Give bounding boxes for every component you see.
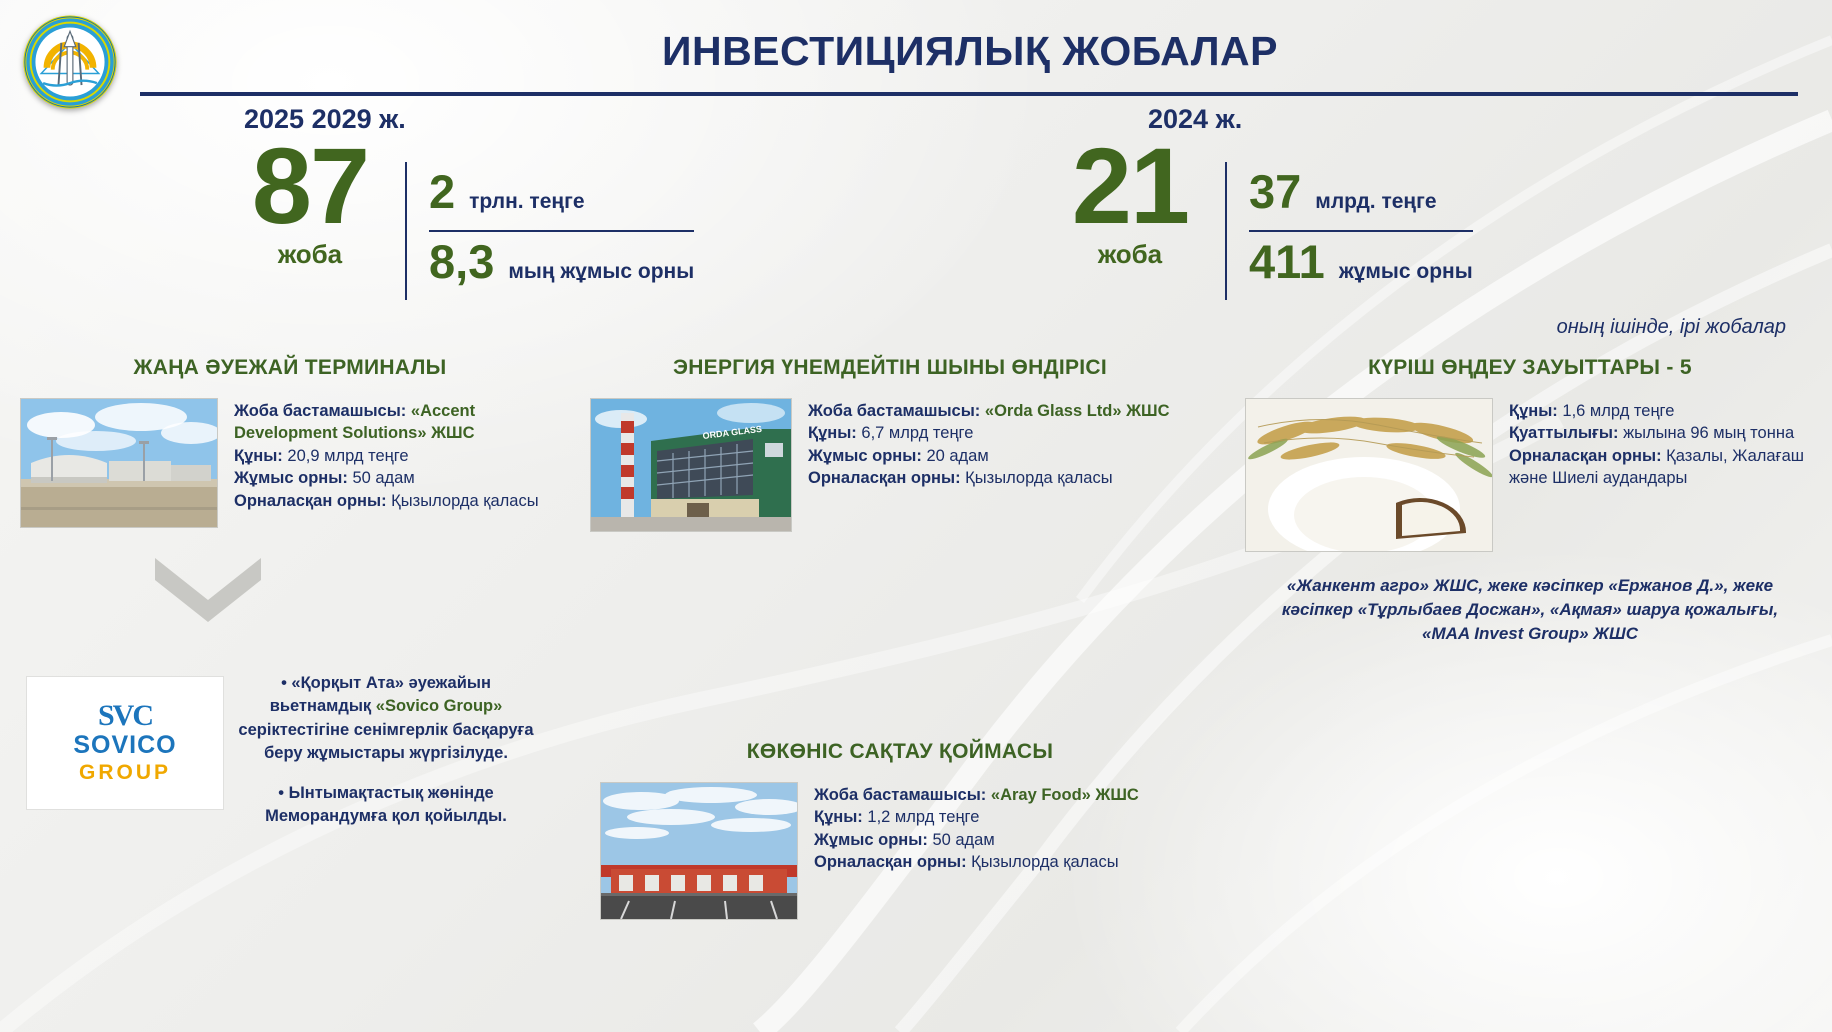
project-card-warehouse: КӨКӨНІС САҚТАУ ҚОЙМАСЫ: [600, 740, 1200, 920]
stat-detail-list: 2 трлн. теңге 8,3 мың жұмыс орны: [405, 162, 694, 300]
stat-row-value: 2: [429, 168, 455, 215]
sovico-logo-mark: SVC: [98, 701, 152, 731]
subnote-large-projects: оның ішінде, ірі жобалар: [1557, 316, 1786, 339]
sovico-logo-name: SOVICO: [73, 731, 176, 760]
detail-line: Жұмыс орны: 50 адам: [234, 467, 560, 489]
airport-terminal-photo: [20, 398, 218, 528]
down-arrow-icon: [155, 558, 261, 627]
vegetable-warehouse-photo: [600, 782, 798, 920]
stat-row: 411 жұмыс орны: [1249, 232, 1473, 300]
detail-line: Орналасқан орны: Қызылорда қаласы: [234, 490, 560, 512]
detail-line: Орналасқан орны: Қазалы, Жалағаш және Ши…: [1509, 445, 1815, 490]
list-item: • Ынтымақтастық жөнінде Меморандумға қол…: [236, 782, 536, 829]
stat-detail-list: 37 млрд. теңге 411 жұмыс орны: [1225, 162, 1473, 300]
detail-line: Құны: 6,7 млрд теңге: [808, 422, 1170, 444]
page-title: ИНВЕСТИЦИЯЛЫҚ ЖОБАЛАР: [140, 28, 1800, 75]
project-details: Жоба бастамашысы: «Aray Food» ЖШС Құны: …: [814, 782, 1139, 874]
stat-count-value: 87: [215, 136, 405, 235]
stat-row-value: 37: [1249, 168, 1301, 215]
sovico-bullet-list: • «Қорқыт Ата» әуежайын вьетнамдық «Sovi…: [236, 672, 536, 845]
detail-line: Жоба бастамашысы: «Accent Development So…: [234, 400, 560, 445]
stat-row-unit: млрд. теңге: [1315, 190, 1436, 214]
project-note-rice: «Жанкент агро» ЖШС, жеке кәсіпкер «Ержан…: [1245, 574, 1815, 645]
kyzylorda-region-emblem-icon: [22, 14, 118, 110]
list-item: • «Қорқыт Ата» әуежайын вьетнамдық «Sovi…: [236, 672, 536, 766]
slide-root: ИНВЕСТИЦИЯЛЫҚ ЖОБАЛАР 2025 2029 ж. 87 жо…: [0, 0, 1832, 1032]
title-divider: [140, 92, 1798, 96]
stat-count-block: 87 жоба: [215, 136, 405, 270]
project-card-airport: ЖАҢА ӘУЕЖАЙ ТЕРМИНАЛЫ: [20, 356, 560, 528]
stat-group-2025-2029: 87 жоба 2 трлн. теңге 8,3 мың жұмыс орны: [215, 136, 694, 300]
detail-line: Жұмыс орны: 50 адам: [814, 829, 1139, 851]
orda-glass-factory-photo: ORDA GLASS: [590, 398, 792, 532]
stat-count-block: 21 жоба: [1035, 136, 1225, 270]
detail-line: Қуаттылығы: жылына 96 мың тонна: [1509, 422, 1815, 444]
detail-line: Құны: 1,2 млрд теңге: [814, 806, 1139, 828]
project-title: ЭНЕРГИЯ ҮНЕМДЕЙТІН ШЫНЫ ӨНДІРІСІ: [590, 356, 1190, 380]
project-details: Жоба бастамашысы: «Accent Development So…: [234, 398, 560, 512]
stat-row-unit: жұмыс орны: [1339, 260, 1473, 284]
project-title: КӨКӨНІС САҚТАУ ҚОЙМАСЫ: [600, 740, 1200, 764]
stat-count-label: жоба: [1035, 239, 1225, 270]
project-details: Құны: 1,6 млрд теңге Қуаттылығы: жылына …: [1509, 398, 1815, 490]
detail-line: Құны: 20,9 млрд теңге: [234, 445, 560, 467]
stat-row: 37 млрд. теңге: [1249, 162, 1473, 232]
stat-row: 2 трлн. теңге: [429, 162, 694, 232]
stat-row-unit: мың жұмыс орны: [508, 260, 694, 284]
project-card-glass: ЭНЕРГИЯ ҮНЕМДЕЙТІН ШЫНЫ ӨНДІРІСІ: [590, 356, 1190, 532]
project-details: Жоба бастамашысы: «Orda Glass Ltd» ЖШС Қ…: [808, 398, 1170, 490]
stat-group-2024: 21 жоба 37 млрд. теңге 411 жұмыс орны: [1035, 136, 1473, 300]
stat-row-value: 411: [1249, 238, 1325, 285]
detail-line: Орналасқан орны: Қызылорда қаласы: [814, 851, 1139, 873]
detail-line: Жұмыс орны: 20 адам: [808, 445, 1170, 467]
rice-grain-photo: [1245, 398, 1493, 552]
stat-count-value: 21: [1035, 136, 1225, 235]
stat-row-unit: трлн. теңге: [469, 190, 584, 214]
detail-line: Жоба бастамашысы: «Orda Glass Ltd» ЖШС: [808, 400, 1170, 422]
detail-line: Орналасқан орны: Қызылорда қаласы: [808, 467, 1170, 489]
stat-row-value: 8,3: [429, 238, 494, 285]
sovico-logo-sub: GROUP: [79, 760, 171, 785]
detail-line: Құны: 1,6 млрд теңге: [1509, 400, 1815, 422]
project-title: КҮРІШ ӨҢДЕУ ЗАУЫТТАРЫ - 5: [1245, 356, 1815, 380]
stat-row: 8,3 мың жұмыс орны: [429, 232, 694, 300]
stat-count-label: жоба: [215, 239, 405, 270]
project-title: ЖАҢА ӘУЕЖАЙ ТЕРМИНАЛЫ: [20, 356, 560, 380]
detail-line: Жоба бастамашысы: «Aray Food» ЖШС: [814, 784, 1139, 806]
sovico-group-logo: SVC SOVICO GROUP: [26, 676, 224, 810]
project-card-rice: КҮРІШ ӨҢДЕУ ЗАУЫТТАРЫ - 5: [1245, 356, 1815, 645]
